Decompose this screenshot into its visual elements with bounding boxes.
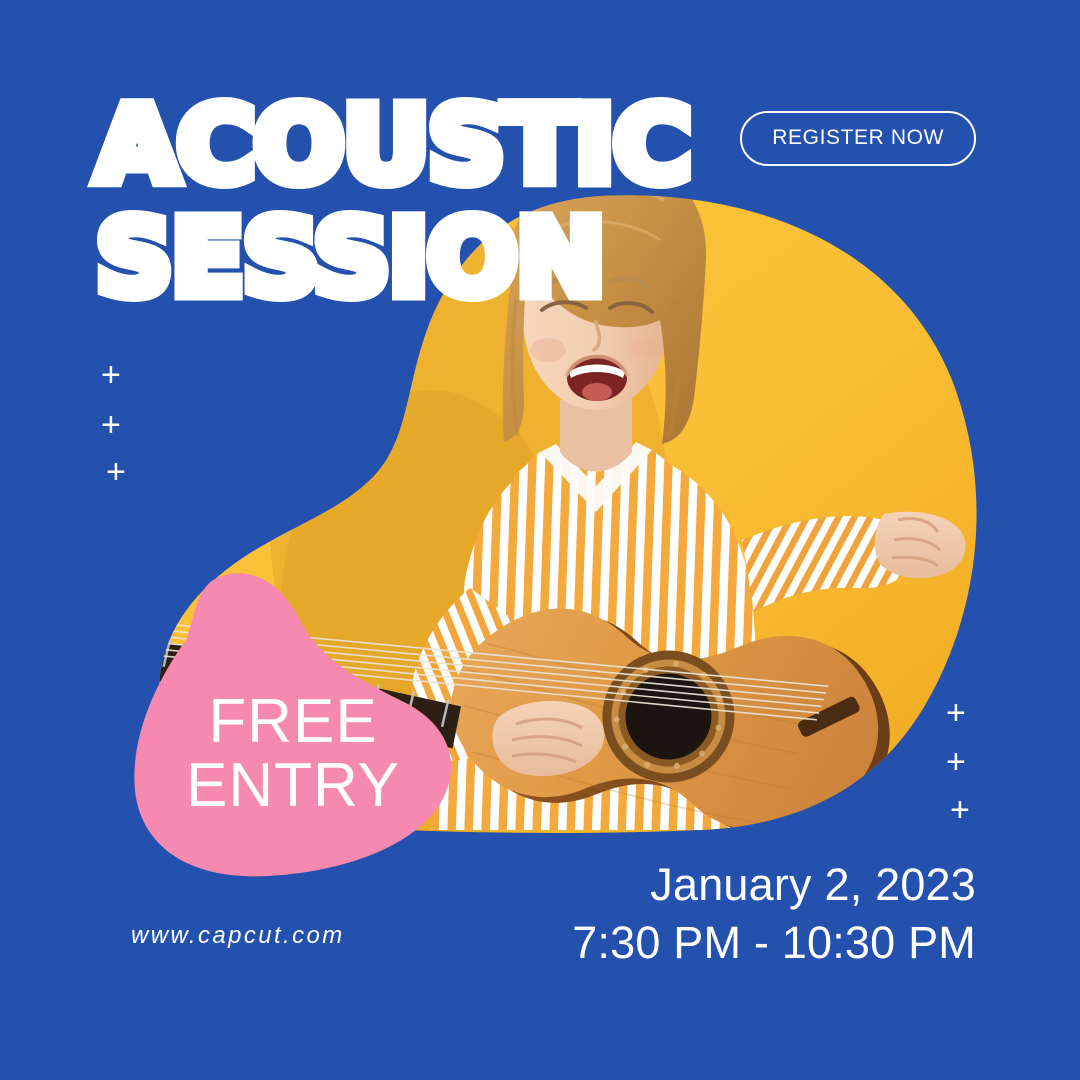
plus-icon: +: [106, 455, 126, 489]
plus-icon: +: [946, 745, 966, 779]
plus-icon: +: [101, 408, 121, 442]
title-line-session: SESSION: [96, 209, 690, 308]
free-entry-badge: FREE ENTRY: [148, 690, 438, 819]
poster-title: ACOUSTIC SESSION: [96, 96, 679, 308]
free-entry-line-2: ENTRY: [148, 754, 438, 818]
event-details: January 2, 2023 7:30 PM - 10:30 PM: [572, 856, 976, 971]
register-now-button[interactable]: REGISTER NOW: [740, 111, 976, 166]
plus-icon: +: [946, 696, 966, 730]
plus-icon: +: [101, 358, 121, 392]
plus-icon: +: [950, 793, 970, 827]
event-time: 7:30 PM - 10:30 PM: [572, 914, 976, 972]
website-url[interactable]: www.capcut.com: [131, 922, 345, 950]
poster-canvas: ACOUSTIC SESSION REGISTER NOW FREE ENTRY…: [0, 0, 1080, 1080]
title-line-acoustic: ACOUSTIC: [96, 96, 690, 195]
free-entry-line-1: FREE: [148, 690, 438, 754]
event-date: January 2, 2023: [572, 856, 976, 914]
